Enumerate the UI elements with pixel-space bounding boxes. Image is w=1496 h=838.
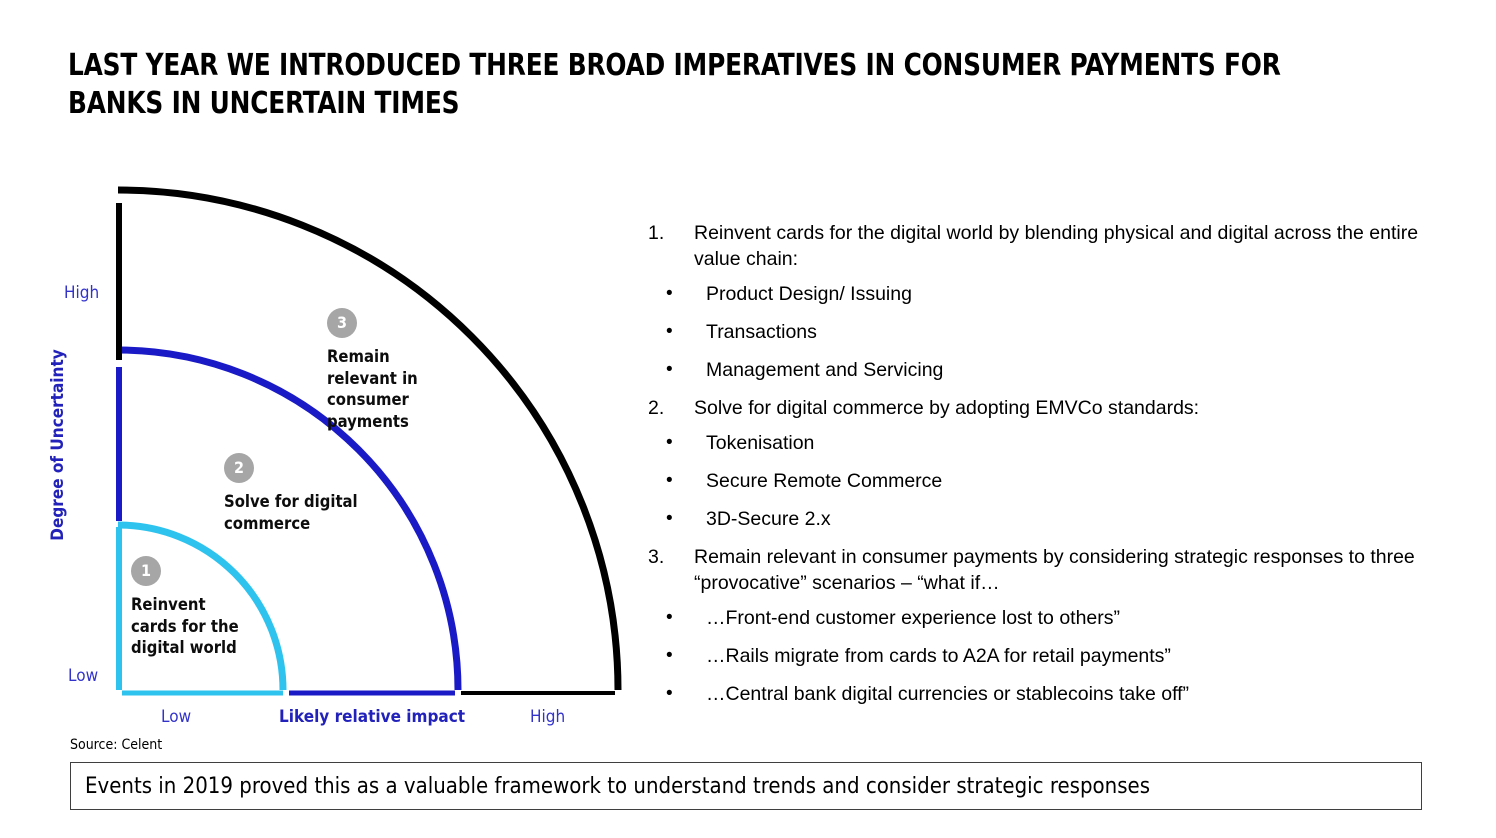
bullet-icon: •: [648, 643, 706, 669]
chart-band-callout-1: 1 Reinvent cards for the digital world: [131, 556, 239, 659]
source-note: Source: Celent: [70, 737, 162, 753]
sub-item-label: …Rails migrate from cards to A2A for ret…: [706, 643, 1428, 669]
band-label-1: Reinvent cards for the digital world: [131, 594, 239, 659]
bullet-icon: •: [648, 605, 706, 631]
bullet-icon: •: [648, 319, 706, 345]
bullet-icon: •: [648, 506, 706, 532]
imperative-number-3: 3.: [648, 544, 694, 596]
sub-item-label: …Central bank digital currencies or stab…: [706, 681, 1428, 707]
sub-item-label: …Front-end customer experience lost to o…: [706, 605, 1428, 631]
imperative-sublist-3: • …Front-end customer experience lost to…: [648, 605, 1428, 707]
sub-item-label: Management and Servicing: [706, 357, 1428, 383]
imperative-sublist-1: • Product Design/ Issuing • Transactions…: [648, 281, 1428, 383]
sub-item: • …Rails migrate from cards to A2A for r…: [648, 643, 1428, 669]
imperative-text-2: Solve for digital commerce by adopting E…: [694, 395, 1428, 421]
y-axis-label-high: High: [64, 283, 99, 303]
chart-band-callout-3: 3 Remain relevant in consumer payments: [327, 308, 418, 432]
sub-item: • …Front-end customer experience lost to…: [648, 605, 1428, 631]
sub-item: • Transactions: [648, 319, 1428, 345]
band-number-badge-3: 3: [327, 308, 357, 338]
imperative-text-3: Remain relevant in consumer payments by …: [694, 544, 1428, 596]
sub-item: • Product Design/ Issuing: [648, 281, 1428, 307]
band-label-2: Solve for digital commerce: [224, 491, 358, 534]
bullet-icon: •: [648, 430, 706, 456]
sub-item-label: 3D-Secure 2.x: [706, 506, 1428, 532]
sub-item: • Management and Servicing: [648, 357, 1428, 383]
footer-callout-text: Events in 2019 proved this as a valuable…: [71, 774, 1150, 799]
uncertainty-impact-chart: High Low Low High Degree of Uncertainty …: [0, 0, 660, 760]
imperative-item-3: 3. Remain relevant in consumer payments …: [648, 544, 1428, 596]
sub-item-label: Transactions: [706, 319, 1428, 345]
bullet-icon: •: [648, 357, 706, 383]
x-axis-title: Likely relative impact: [279, 707, 465, 727]
sub-item: • Secure Remote Commerce: [648, 468, 1428, 494]
sub-item-label: Tokenisation: [706, 430, 1428, 456]
sub-item: • 3D-Secure 2.x: [648, 506, 1428, 532]
chart-band-callout-2: 2 Solve for digital commerce: [224, 453, 358, 534]
bullet-icon: •: [648, 468, 706, 494]
footer-callout-box: Events in 2019 proved this as a valuable…: [70, 762, 1422, 810]
sub-item: • …Central bank digital currencies or st…: [648, 681, 1428, 707]
imperative-text-1: Reinvent cards for the digital world by …: [694, 220, 1428, 272]
band-number-badge-1: 1: [131, 556, 161, 586]
band-number-badge-2: 2: [224, 453, 254, 483]
sub-item-label: Secure Remote Commerce: [706, 468, 1428, 494]
y-axis-label-low: Low: [68, 666, 98, 686]
sub-item-label: Product Design/ Issuing: [706, 281, 1428, 307]
bullet-icon: •: [648, 281, 706, 307]
imperative-sublist-2: • Tokenisation • Secure Remote Commerce …: [648, 430, 1428, 532]
imperatives-list: 1. Reinvent cards for the digital world …: [648, 220, 1428, 719]
x-axis-label-high: High: [530, 707, 565, 727]
sub-item: • Tokenisation: [648, 430, 1428, 456]
imperative-number-2: 2.: [648, 395, 694, 421]
imperative-number-1: 1.: [648, 220, 694, 272]
y-axis-title: Degree of Uncertainty: [48, 325, 68, 565]
x-axis-label-low: Low: [161, 707, 191, 727]
band-label-3: Remain relevant in consumer payments: [327, 346, 418, 432]
imperative-item-2: 2. Solve for digital commerce by adoptin…: [648, 395, 1428, 421]
bullet-icon: •: [648, 681, 706, 707]
imperative-item-1: 1. Reinvent cards for the digital world …: [648, 220, 1428, 272]
